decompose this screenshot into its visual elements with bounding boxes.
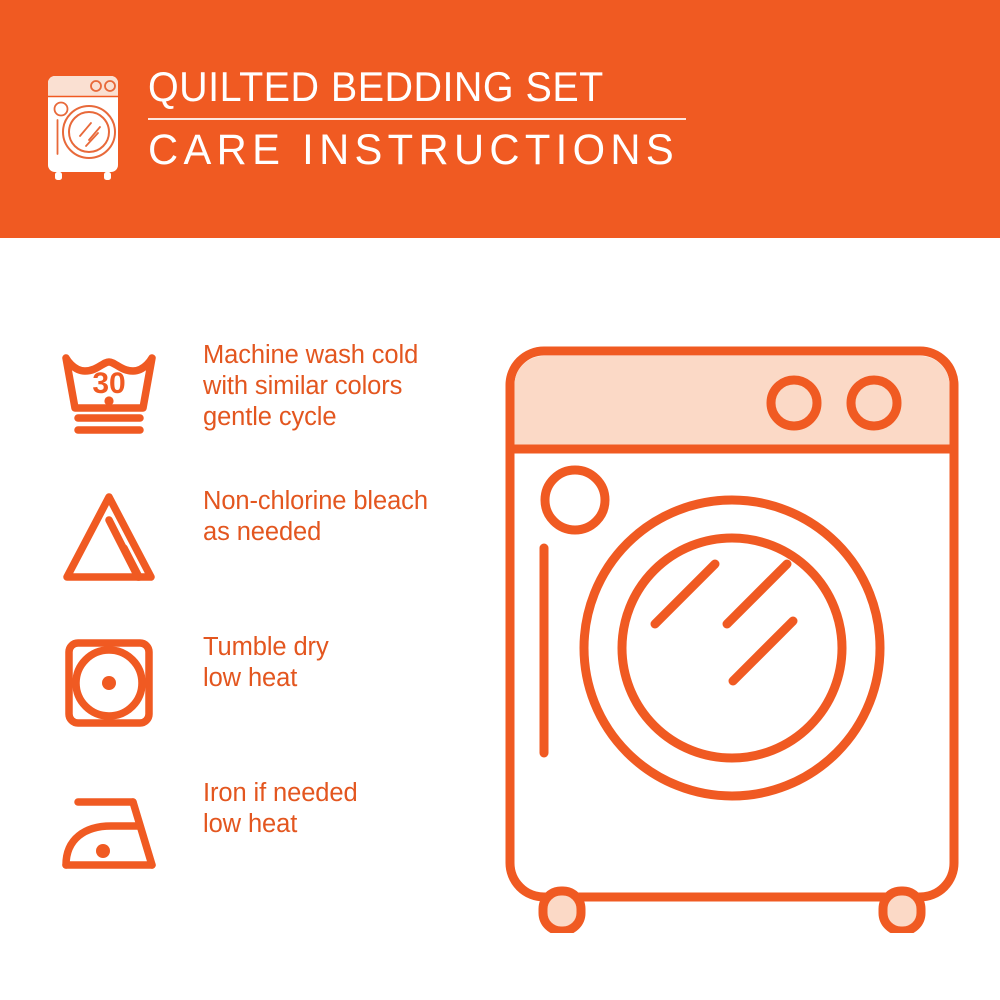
- care-text-line: as needed: [203, 517, 428, 548]
- care-text-line: Iron if needed: [203, 778, 358, 809]
- wash-tub-icon: 30: [55, 338, 163, 444]
- leg-right: [883, 891, 921, 931]
- title-divider: [148, 118, 686, 120]
- care-item-text: Machine wash cold with similar colors ge…: [203, 340, 418, 433]
- list-item: Non-chlorine bleach as needed: [55, 484, 475, 590]
- care-item-text: Iron if needed low heat: [203, 778, 358, 840]
- care-text-line: low heat: [203, 663, 329, 694]
- wash-temperature-label: 30: [92, 367, 125, 400]
- page-title: QUILTED BEDDING SET: [148, 64, 663, 110]
- list-item: 30 Machine wash cold with similar colors…: [55, 338, 475, 444]
- header-content: QUILTED BEDDING SET CARE INSTRUCTIONS: [44, 64, 695, 182]
- list-item: Tumble dry low heat: [55, 630, 475, 736]
- care-text-line: Tumble dry: [203, 632, 329, 663]
- care-text-line: Machine wash cold: [203, 340, 418, 371]
- list-item: Iron if needed low heat: [55, 776, 475, 882]
- care-text-line: low heat: [203, 809, 358, 840]
- tumble-dry-icon: [55, 630, 163, 736]
- care-instruction-list: 30 Machine wash cold with similar colors…: [55, 338, 475, 882]
- bleach-triangle-icon: [55, 484, 163, 590]
- care-text-line: gentle cycle: [203, 402, 418, 433]
- main-content: 30 Machine wash cold with similar colors…: [0, 238, 1000, 1000]
- care-text-line: with similar colors: [203, 371, 418, 402]
- care-item-text: Tumble dry low heat: [203, 632, 329, 694]
- iron-icon: [55, 776, 163, 882]
- care-text-line: Non-chlorine bleach: [203, 486, 428, 517]
- care-item-text: Non-chlorine bleach as needed: [203, 486, 428, 548]
- header-titles: QUILTED BEDDING SET CARE INSTRUCTIONS: [148, 64, 695, 174]
- control-panel: [515, 356, 950, 449]
- header-banner: QUILTED BEDDING SET CARE INSTRUCTIONS: [0, 0, 1000, 238]
- leg-left: [543, 891, 581, 931]
- page-subtitle: CARE INSTRUCTIONS: [148, 127, 679, 174]
- washing-machine-icon: [44, 70, 122, 182]
- washing-machine-illustration: [497, 343, 967, 933]
